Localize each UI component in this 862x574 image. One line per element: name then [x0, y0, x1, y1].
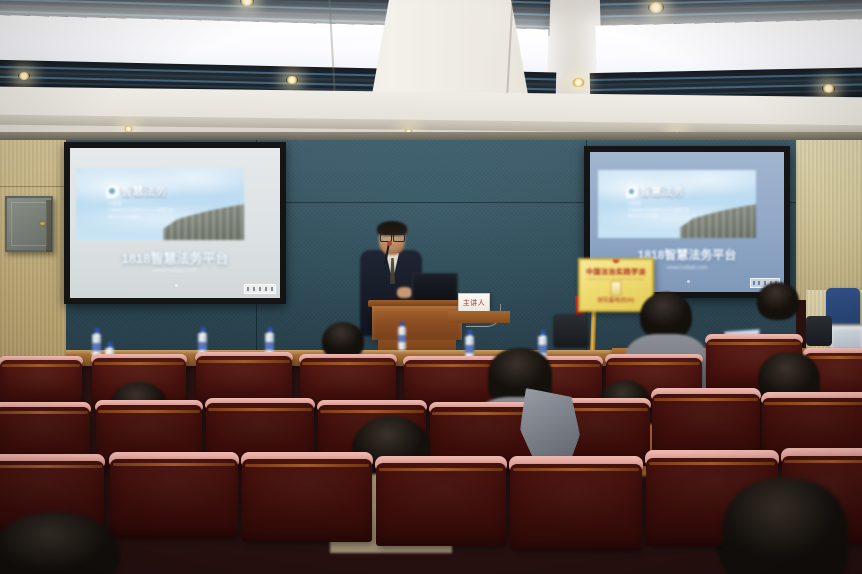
presidium-chair [553, 314, 589, 348]
ceiling [0, 0, 862, 140]
recessed-spotlight [822, 84, 835, 93]
presenter-hand [397, 287, 412, 298]
slide-logo-mark-icon [626, 186, 638, 198]
slide-logo-left: 智慧法务 [106, 183, 167, 199]
slide-title-left: 1818智慧法务平台 [70, 248, 280, 267]
plaque-title: 中国法治实践学派 [580, 267, 652, 277]
projection-screen-left-surface: 智慧法务 大数据 汇聚国内外法务领域专业人才与智慧力量 提供全方位法律服务 18… [70, 148, 280, 298]
presenter-laptop[interactable] [412, 273, 458, 303]
recessed-spotlight [18, 72, 30, 80]
slide-logo-mark-icon [106, 185, 119, 198]
wall-left [0, 140, 74, 370]
plaque-top-ornament-icon [613, 258, 620, 263]
auditorium-seat[interactable] [510, 456, 642, 550]
slide-logo-text: 智慧法务 [121, 183, 167, 199]
auditorium-seat[interactable] [0, 356, 82, 408]
slide-logo-text: 智慧法务 [640, 184, 684, 199]
slide-right: 智慧法务 大数据 汇聚国内外法务领域专业人才与智慧力量 提供全方位法律服务 [598, 170, 756, 238]
audience-member [757, 282, 799, 320]
wall-left-seam [0, 186, 74, 187]
slide-left: 智慧法务 大数据 汇聚国内外法务领域专业人才与智慧力量 提供全方位法律服务 [76, 168, 244, 240]
wall-control-panel-shadow [46, 200, 52, 252]
auditorium-seat[interactable] [242, 452, 372, 542]
slide-subtitle-line-2: 汇聚国内外法务领域专业人才与智慧力量 [108, 208, 173, 213]
water-bottle [398, 322, 406, 350]
recessed-spotlight [286, 76, 298, 84]
slide-subtitle-line-1: 大数据 [108, 201, 122, 207]
recessed-spotlight [572, 78, 585, 87]
slide-pager-dot-left [175, 284, 178, 287]
side-equipment-case [806, 316, 832, 346]
auditorium-seat[interactable] [110, 452, 238, 538]
projection-screen-left: 智慧法务 大数据 汇聚国内外法务领域专业人才与智慧力量 提供全方位法律服务 18… [64, 142, 286, 304]
slide-url-left: www.hulladi.com [70, 268, 280, 274]
slide-pager-dot-right [687, 280, 690, 283]
audience-member [640, 292, 692, 340]
recessed-spotlight [648, 2, 664, 13]
audience-member [722, 478, 848, 574]
slide-subtitle-line-3: 提供全方位法律服务 [108, 215, 140, 220]
plaque-emblem-icon [611, 281, 622, 296]
lecture-hall-photograph: 智慧法务 大数据 汇聚国内外法务领域专业人才与智慧力量 提供全方位法律服务 18… [0, 0, 862, 574]
presenter-glasses [393, 234, 405, 242]
audience-member [0, 512, 120, 574]
slide-subtitle-line-2: 汇聚国内外法务领域专业人才与智慧力量 [628, 208, 689, 213]
wall-right [792, 140, 862, 300]
slide-toolbar-left[interactable] [244, 284, 276, 294]
slide-subtitle-line-1: 大数据 [628, 201, 641, 207]
slide-logo-right: 智慧法务 [626, 184, 684, 199]
side-table [448, 311, 510, 323]
podium-microphone-head-icon [387, 241, 392, 246]
auditorium-seat[interactable] [376, 456, 506, 546]
slide-subtitle-line-3: 提供全方位法律服务 [628, 214, 659, 219]
